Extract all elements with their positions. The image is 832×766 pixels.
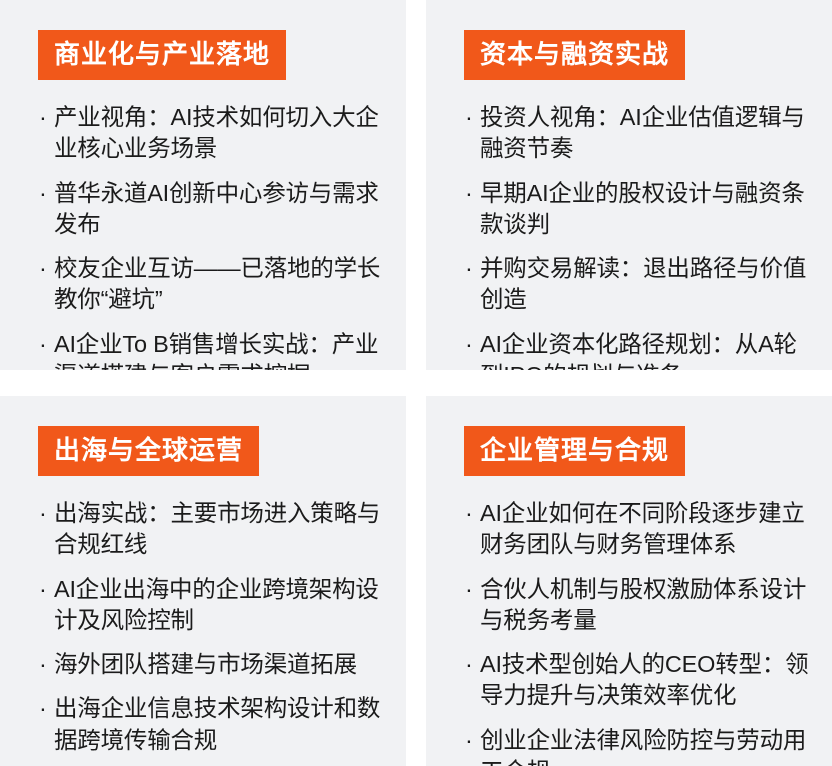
- list-item-label: 创业企业法律风险防控与劳动用工合规: [480, 725, 810, 766]
- list-item-label: AI技术型创始人的CEO转型：领导力提升与决策效率优化: [480, 649, 810, 712]
- bullet-dot-icon: ·: [39, 693, 47, 724]
- list-item-label: 出海企业信息技术架构设计和数据跨境传输合规: [54, 693, 384, 756]
- panel-content: 企业管理与合规 · AI企业如何在不同阶段逐步建立财务团队与财务管理体系 · 合…: [426, 396, 832, 766]
- bullet-dot-icon: ·: [39, 253, 47, 284]
- bullet-dot-icon: ·: [39, 178, 47, 209]
- bullet-dot-icon: ·: [465, 102, 473, 133]
- list-item: · 创业企业法律风险防控与劳动用工合规: [464, 725, 810, 766]
- bullet-dot-icon: ·: [39, 329, 47, 360]
- bullet-dot-icon: ·: [39, 102, 47, 133]
- list-item: · 校友企业互访——已落地的学长教你“避坑”: [38, 253, 384, 316]
- panel-title-badge: 企业管理与合规: [464, 426, 685, 476]
- panel-content: 资本与融资实战 · 投资人视角：AI企业估值逻辑与融资节奏 · 早期AI企业的股…: [426, 0, 832, 370]
- list-item-label: 海外团队搭建与市场渠道拓展: [54, 649, 384, 680]
- bullet-dot-icon: ·: [39, 649, 47, 680]
- list-item-label: 出海实战：主要市场进入策略与合规红线: [54, 498, 384, 561]
- list-item: · 合伙人机制与股权激励体系设计与税务考量: [464, 574, 810, 637]
- list-item-label: 产业视角：AI技术如何切入大企业核心业务场景: [54, 102, 384, 165]
- panel-content: 出海与全球运营 · 出海实战：主要市场进入策略与合规红线 · AI企业出海中的企…: [0, 396, 406, 756]
- list-item: · 海外团队搭建与市场渠道拓展: [38, 649, 384, 680]
- list-item: · AI技术型创始人的CEO转型：领导力提升与决策效率优化: [464, 649, 810, 712]
- list-item-label: 早期AI企业的股权设计与融资条款谈判: [480, 178, 810, 241]
- list-item: · AI企业出海中的企业跨境架构设计及风险控制: [38, 574, 384, 637]
- list-item: · 出海实战：主要市场进入策略与合规红线: [38, 498, 384, 561]
- list-item-label: 校友企业互访——已落地的学长教你“避坑”: [54, 253, 384, 316]
- panel-title-badge: 出海与全球运营: [38, 426, 259, 476]
- panel-management-compliance: 企业管理与合规 · AI企业如何在不同阶段逐步建立财务团队与财务管理体系 · 合…: [426, 396, 832, 766]
- bullet-list: · 投资人视角：AI企业估值逻辑与融资节奏 · 早期AI企业的股权设计与融资条款…: [464, 102, 810, 370]
- list-item-label: AI企业如何在不同阶段逐步建立财务团队与财务管理体系: [480, 498, 810, 561]
- list-item: · 产业视角：AI技术如何切入大企业核心业务场景: [38, 102, 384, 165]
- bullet-dot-icon: ·: [465, 725, 473, 756]
- list-item-label: 普华永道AI创新中心参访与需求发布: [54, 178, 384, 241]
- panel-content: 商业化与产业落地 · 产业视角：AI技术如何切入大企业核心业务场景 · 普华永道…: [0, 0, 406, 370]
- bullet-dot-icon: ·: [465, 649, 473, 680]
- bullet-dot-icon: ·: [465, 178, 473, 209]
- list-item: · 早期AI企业的股权设计与融资条款谈判: [464, 178, 810, 241]
- list-item: · AI企业如何在不同阶段逐步建立财务团队与财务管理体系: [464, 498, 810, 561]
- list-item-label: AI企业资本化路径规划：从A轮到IPO的规划与准备: [480, 329, 810, 371]
- list-item: · 投资人视角：AI企业估值逻辑与融资节奏: [464, 102, 810, 165]
- panel-title-badge: 商业化与产业落地: [38, 30, 286, 80]
- list-item-label: AI企业To B销售增长实战：产业渠道搭建与客户需求挖掘: [54, 329, 384, 371]
- bullet-list: · 出海实战：主要市场进入策略与合规红线 · AI企业出海中的企业跨境架构设计及…: [38, 498, 384, 756]
- bullet-dot-icon: ·: [465, 574, 473, 605]
- bullet-list: · AI企业如何在不同阶段逐步建立财务团队与财务管理体系 · 合伙人机制与股权激…: [464, 498, 810, 766]
- bullet-list: · 产业视角：AI技术如何切入大企业核心业务场景 · 普华永道AI创新中心参访与…: [38, 102, 384, 370]
- list-item-label: 合伙人机制与股权激励体系设计与税务考量: [480, 574, 810, 637]
- list-item-label: AI企业出海中的企业跨境架构设计及风险控制: [54, 574, 384, 637]
- list-item-label: 投资人视角：AI企业估值逻辑与融资节奏: [480, 102, 810, 165]
- module-grid: 商业化与产业落地 · 产业视角：AI技术如何切入大企业核心业务场景 · 普华永道…: [0, 0, 832, 766]
- list-item-label: 并购交易解读：退出路径与价值创造: [480, 253, 810, 316]
- list-item: · AI企业资本化路径规划：从A轮到IPO的规划与准备: [464, 329, 810, 371]
- panel-capital-financing: 资本与融资实战 · 投资人视角：AI企业估值逻辑与融资节奏 · 早期AI企业的股…: [426, 0, 832, 370]
- list-item: · AI企业To B销售增长实战：产业渠道搭建与客户需求挖掘: [38, 329, 384, 371]
- bullet-dot-icon: ·: [465, 253, 473, 284]
- bullet-dot-icon: ·: [39, 574, 47, 605]
- list-item: · 普华永道AI创新中心参访与需求发布: [38, 178, 384, 241]
- bullet-dot-icon: ·: [465, 329, 473, 360]
- list-item: · 并购交易解读：退出路径与价值创造: [464, 253, 810, 316]
- list-item: · 出海企业信息技术架构设计和数据跨境传输合规: [38, 693, 384, 756]
- bullet-dot-icon: ·: [465, 498, 473, 529]
- panel-global-operations: 出海与全球运营 · 出海实战：主要市场进入策略与合规红线 · AI企业出海中的企…: [0, 396, 406, 766]
- panel-commercialization: 商业化与产业落地 · 产业视角：AI技术如何切入大企业核心业务场景 · 普华永道…: [0, 0, 406, 370]
- panel-title-badge: 资本与融资实战: [464, 30, 685, 80]
- bullet-dot-icon: ·: [39, 498, 47, 529]
